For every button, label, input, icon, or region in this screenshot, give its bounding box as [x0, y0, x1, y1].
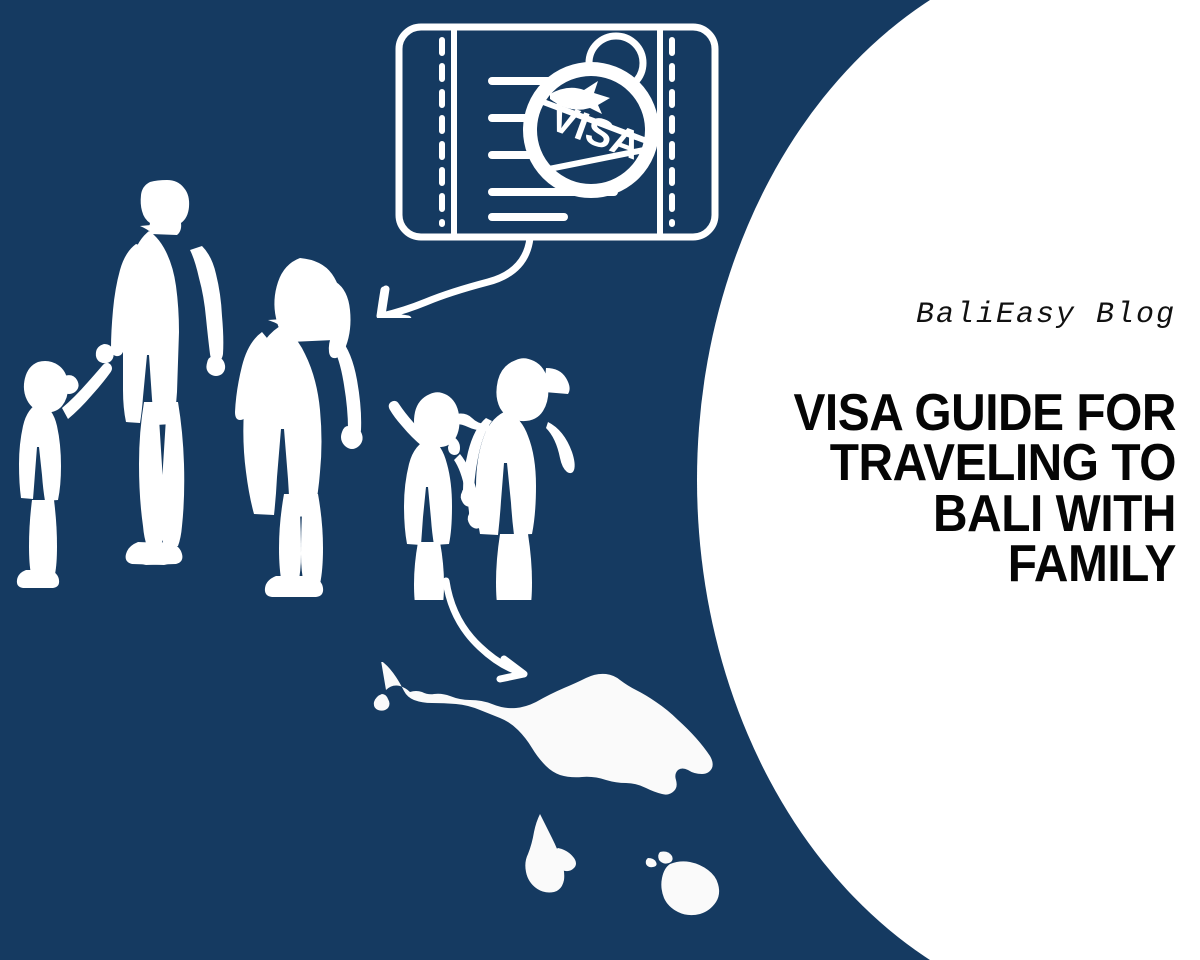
headline-line-4: FAMILY [1008, 535, 1176, 593]
silhouette-girl [389, 392, 490, 600]
headline-line-1: VISA GUIDE FOR [793, 384, 1176, 442]
arrow-to-visa-card-icon [352, 228, 542, 318]
silhouette-toddler [17, 361, 112, 588]
bali-island-map [372, 662, 752, 934]
silhouette-boy [461, 358, 575, 600]
brand-label: BaliEasy Blog [760, 300, 1176, 330]
headline-line-3: BALI WITH [933, 485, 1176, 543]
silhouette-mother [235, 258, 363, 597]
visa-stamp-label: VISA [544, 95, 647, 168]
page-title: VISA GUIDE FOR TRAVELING TO BALI WITH FA… [793, 388, 1176, 590]
headline-line-2: TRAVELING TO [830, 434, 1176, 492]
arrow-to-bali-map-icon [440, 575, 580, 690]
text-column: BaliEasy Blog VISA GUIDE FOR TRAVELING T… [760, 300, 1176, 590]
poster-canvas: VISA [0, 0, 1200, 960]
silhouette-father [96, 180, 225, 565]
visa-card-icon: VISA [392, 18, 722, 246]
family-silhouette [0, 170, 610, 600]
